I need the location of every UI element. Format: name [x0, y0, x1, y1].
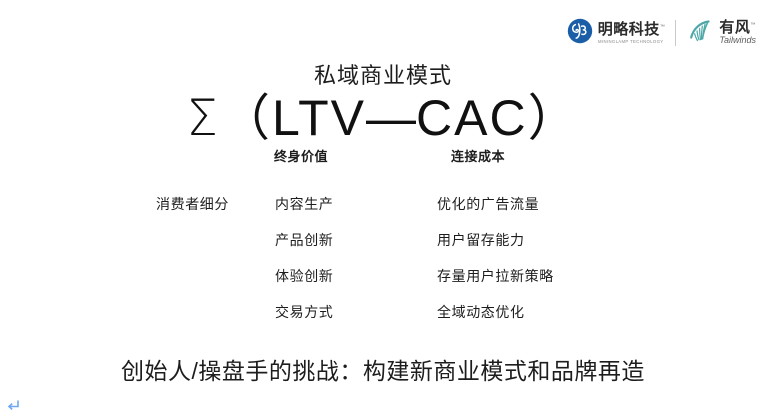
formula-term-ltv: LTV — [272, 90, 366, 146]
formula-expression: Σ（LTV—CAC） — [186, 92, 579, 145]
logo-mininglamp: 明略科技™ MININGLAMP TECHNOLOGY — [567, 16, 666, 50]
list-item: 产品创新 — [275, 229, 333, 265]
formula-close-paren: ） — [528, 90, 580, 146]
ltv-drivers-column: 内容生产 产品创新 体验创新 交易方式 — [275, 193, 333, 337]
mininglamp-trademark-icon: ™ — [660, 24, 666, 30]
segmentation-column: 消费者细分 — [156, 193, 229, 229]
slide-canvas: 明略科技™ MININGLAMP TECHNOLOGY — [0, 0, 766, 419]
list-item: 用户留存能力 — [437, 229, 554, 265]
list-item: 交易方式 — [275, 301, 333, 337]
page-title: 私域商业模式 — [0, 58, 766, 90]
formula-block: Σ（LTV—CAC） — [0, 92, 766, 145]
mininglamp-logo-text: 明略科技™ MININGLAMP TECHNOLOGY — [598, 22, 666, 44]
tailwinds-cn-name: 有风™ — [719, 20, 756, 36]
logo-tailwinds: 有风™ Tailwinds — [686, 16, 756, 50]
list-item: 消费者细分 — [156, 193, 229, 229]
tailwinds-en-name: Tailwinds — [719, 36, 756, 46]
footer-statement: 创始人/操盘手的挑战：构建新商业模式和品牌再造 — [0, 352, 766, 386]
return-arrow-icon — [6, 399, 20, 413]
formula-open-paren: （ — [220, 90, 272, 146]
list-item: 优化的广告流量 — [437, 193, 554, 229]
list-item: 内容生产 — [275, 193, 333, 229]
list-item: 存量用户拉新策略 — [437, 265, 554, 301]
logo-bar: 明略科技™ MININGLAMP TECHNOLOGY — [567, 16, 756, 50]
mininglamp-emblem-icon — [567, 18, 593, 49]
mininglamp-cn-name: 明略科技™ — [598, 22, 666, 38]
sublabel-lifetime-value: 终身价值 — [274, 146, 328, 165]
formula-term-cac: CAC — [416, 90, 528, 146]
tailwinds-trademark-icon: ™ — [750, 22, 756, 28]
tailwinds-feather-icon — [686, 17, 714, 50]
mininglamp-en-name: MININGLAMP TECHNOLOGY — [598, 39, 667, 44]
list-item: 全域动态优化 — [437, 301, 554, 337]
cac-drivers-column: 优化的广告流量 用户留存能力 存量用户拉新策略 全域动态优化 — [437, 193, 554, 337]
list-item: 体验创新 — [275, 265, 333, 301]
tailwinds-logo-text: 有风™ Tailwinds — [719, 20, 756, 47]
logo-divider — [675, 20, 676, 46]
sublabel-connection-cost: 连接成本 — [451, 146, 505, 165]
formula-operator: — — [366, 90, 416, 146]
driver-columns: 消费者细分 内容生产 产品创新 体验创新 交易方式 优化的广告流量 用户留存能力… — [0, 193, 766, 333]
formula-sigma: Σ — [186, 89, 220, 147]
